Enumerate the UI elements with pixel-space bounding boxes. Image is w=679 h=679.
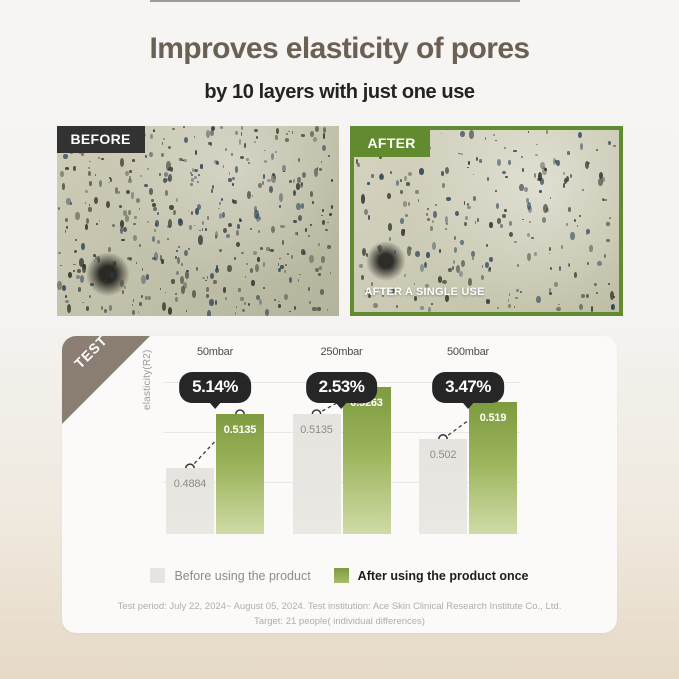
- improvement-badge: 2.53%: [306, 372, 378, 403]
- bar-after: 0.5135: [216, 414, 264, 534]
- bar-value-label: 0.519: [469, 412, 517, 424]
- legend-swatch-after: [334, 568, 349, 583]
- footnote-line-2: Target: 21 people( individual difference…: [0, 615, 679, 630]
- bar-value-label: 0.5135: [216, 424, 264, 436]
- bar-before: 0.5135: [293, 414, 341, 534]
- axis-baseline: [150, 0, 520, 2]
- bar-group: 50mbar5.14%0.48840.5135: [163, 360, 267, 534]
- improvement-badge: 3.47%: [432, 372, 504, 403]
- group-pressure-label: 250mbar: [290, 346, 394, 358]
- bar-before: 0.502: [419, 439, 467, 534]
- group-pressure-label: 50mbar: [163, 346, 267, 358]
- y-axis-label: elasticity(R2): [142, 349, 153, 410]
- after-caption: AFTER A SINGLE USE: [365, 286, 485, 298]
- group-pressure-label: 500mbar: [416, 346, 520, 358]
- footnote: Test period: July 22, 2024~ August 05, 2…: [0, 600, 679, 629]
- bar-value-label: 0.502: [419, 449, 467, 461]
- legend-swatch-before: [150, 568, 165, 583]
- bar-groups: 50mbar5.14%0.48840.5135250mbar2.53%0.513…: [163, 360, 520, 534]
- footnote-line-1: Test period: July 22, 2024~ August 05, 2…: [0, 600, 679, 615]
- bar-value-label: 0.5135: [293, 424, 341, 436]
- bar-value-label: 0.4884: [166, 478, 214, 490]
- bar-group: 250mbar2.53%0.51350.5263: [290, 360, 394, 534]
- legend-label-after: After using the product once: [358, 569, 529, 583]
- bar-before: 0.4884: [166, 468, 214, 534]
- bar-group: 500mbar3.47%0.5020.519: [416, 360, 520, 534]
- before-label: BEFORE: [57, 126, 145, 153]
- chart-legend: Before using the product After using the…: [0, 568, 679, 583]
- legend-label-before: Before using the product: [174, 569, 310, 583]
- after-label: AFTER: [354, 130, 430, 157]
- bar-after: 0.519: [469, 402, 517, 534]
- improvement-badge: 5.14%: [179, 372, 251, 403]
- bar-after: 0.5263: [343, 387, 391, 534]
